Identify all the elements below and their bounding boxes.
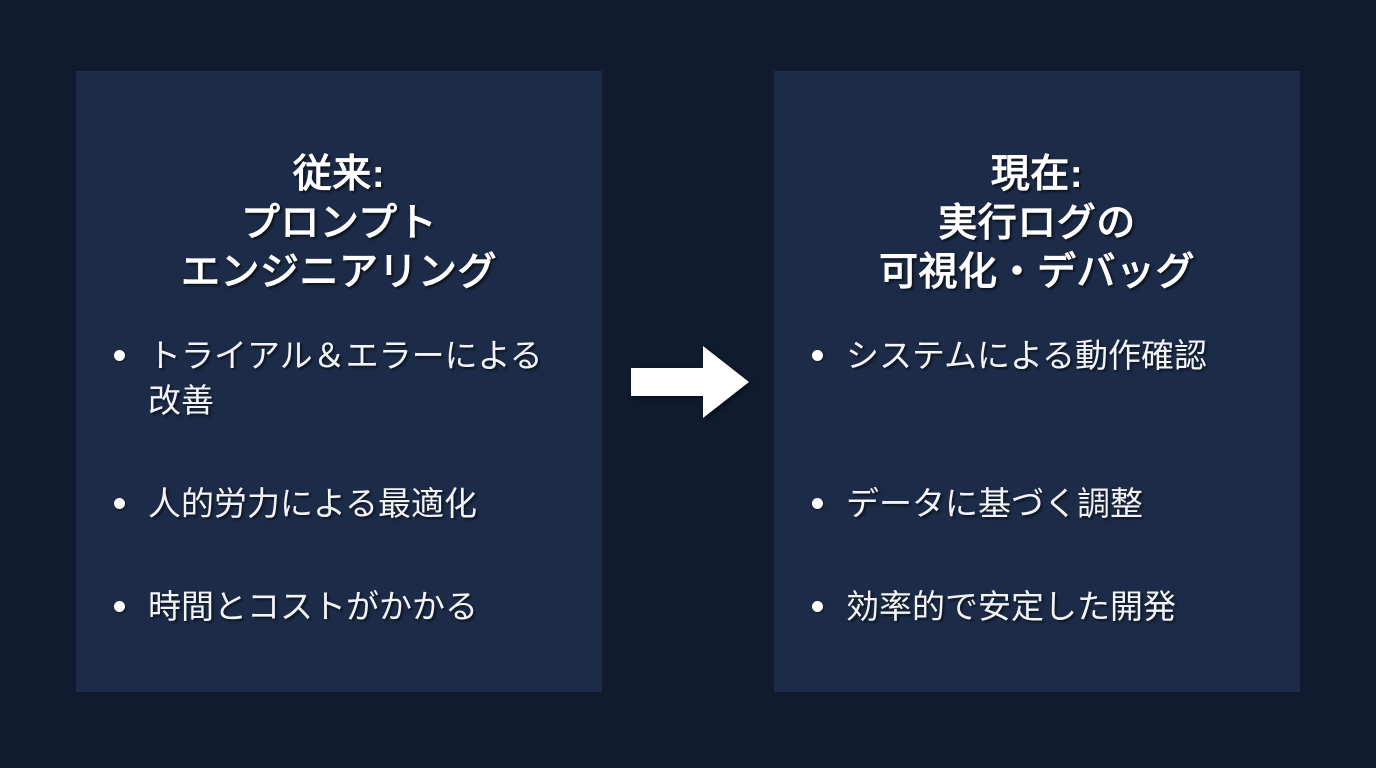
panel-after-title: 現在: 実行ログの 可視化・デバッグ: [774, 150, 1300, 297]
arrow-right-icon: [631, 346, 749, 418]
list-item: 人的労力による最適化: [76, 481, 602, 526]
comparison-slide: 従来: プロンプト エンジニアリング トライアル＆エラーによる改善 人的労力によ…: [0, 0, 1376, 768]
panel-before-title-line-3: エンジニアリング: [76, 248, 602, 297]
panel-before-title-line-1: 従来:: [76, 150, 602, 199]
list-item: トライアル＆エラーによる改善: [76, 333, 602, 423]
bullet-dot-icon: [812, 498, 823, 509]
list-item-label: 人的労力による最適化: [148, 481, 588, 526]
list-item: 時間とコストがかかる: [76, 584, 602, 629]
bullet-dot-icon: [812, 350, 823, 361]
panel-before-bullet-list: トライアル＆エラーによる改善 人的労力による最適化 時間とコストがかかる: [76, 333, 602, 629]
bullet-dot-icon: [114, 601, 125, 612]
list-item-label: 効率的で安定した開発: [846, 584, 1286, 629]
panel-before-title-line-2: プロンプト: [76, 199, 602, 248]
list-item: データに基づく調整: [774, 481, 1300, 526]
panel-before-title: 従来: プロンプト エンジニアリング: [76, 150, 602, 297]
panel-after-title-line-3: 可視化・デバッグ: [774, 248, 1300, 297]
list-item-label: 時間とコストがかかる: [148, 584, 588, 629]
list-item: システムによる動作確認: [774, 333, 1300, 378]
list-item-label: トライアル＆エラーによる改善: [148, 333, 548, 423]
panel-after-title-line-1: 現在:: [774, 150, 1300, 199]
panel-after: 現在: 実行ログの 可視化・デバッグ システムによる動作確認 データに基づく調整…: [774, 71, 1300, 692]
bullet-dot-icon: [114, 350, 125, 361]
bullet-dot-icon: [114, 498, 125, 509]
panel-before: 従来: プロンプト エンジニアリング トライアル＆エラーによる改善 人的労力によ…: [76, 71, 602, 692]
bullet-dot-icon: [812, 601, 823, 612]
list-item: 効率的で安定した開発: [774, 584, 1300, 629]
list-item-label: データに基づく調整: [846, 481, 1286, 526]
panel-after-bullet-list: システムによる動作確認 データに基づく調整 効率的で安定した開発: [774, 333, 1300, 629]
panel-after-title-line-2: 実行ログの: [774, 199, 1300, 248]
list-item-label: システムによる動作確認: [846, 333, 1286, 378]
